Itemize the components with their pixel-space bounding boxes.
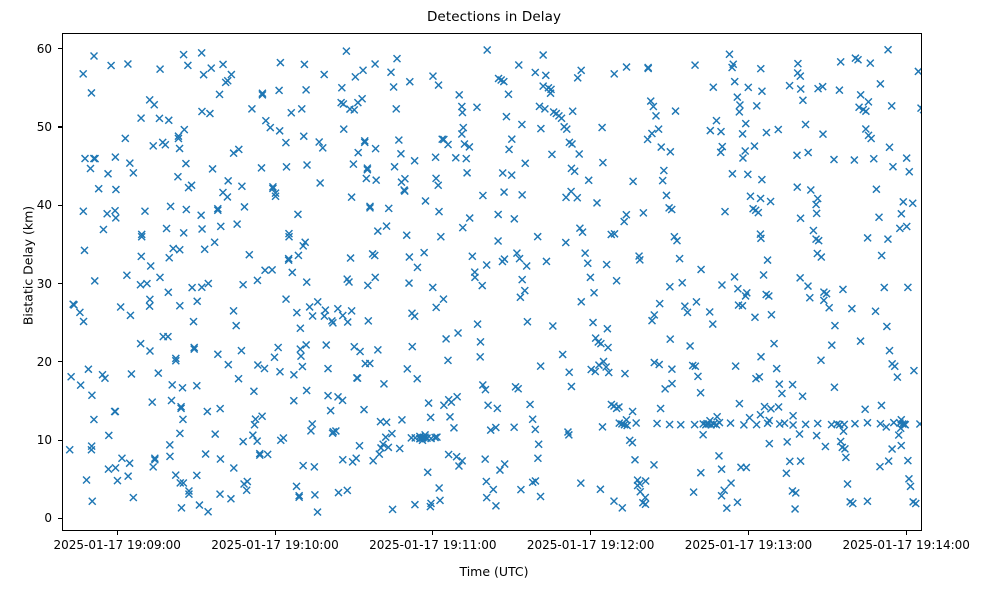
scatter-marker xyxy=(146,348,153,355)
scatter-marker xyxy=(508,136,515,143)
scatter-marker xyxy=(143,280,150,287)
scatter-marker xyxy=(202,451,209,458)
scatter-marker xyxy=(440,296,447,303)
scatter-marker xyxy=(230,465,237,472)
scatter-marker xyxy=(666,421,673,428)
scatter-marker xyxy=(891,363,898,370)
scatter-marker xyxy=(404,365,411,372)
scatter-marker xyxy=(240,438,247,445)
scatter-marker xyxy=(340,126,347,133)
scatter-marker xyxy=(91,277,98,284)
scatter-marker xyxy=(372,60,379,67)
scatter-marker xyxy=(483,494,490,501)
scatter-marker xyxy=(757,231,764,238)
scatter-marker xyxy=(623,211,630,218)
scatter-marker xyxy=(141,208,148,215)
scatter-marker xyxy=(810,227,817,234)
scatter-marker xyxy=(365,317,372,324)
scatter-marker xyxy=(193,472,200,479)
scatter-marker xyxy=(80,318,87,325)
scatter-marker xyxy=(437,497,444,504)
scatter-marker xyxy=(894,374,901,381)
scatter-marker xyxy=(881,284,888,291)
scatter-marker xyxy=(371,252,378,259)
scatter-marker xyxy=(169,381,176,388)
scatter-marker xyxy=(532,477,539,484)
scatter-marker xyxy=(629,408,636,415)
scatter-marker xyxy=(411,313,418,320)
scatter-marker xyxy=(414,375,421,382)
scatter-marker xyxy=(380,380,387,387)
scatter-marker xyxy=(335,489,342,496)
scatter-marker xyxy=(645,65,652,72)
scatter-marker xyxy=(540,83,547,90)
scatter-marker xyxy=(714,413,721,420)
scatter-marker xyxy=(751,314,758,321)
scatter-marker xyxy=(794,60,801,67)
scatter-marker xyxy=(427,414,434,421)
scatter-marker xyxy=(216,91,223,98)
scatter-marker xyxy=(676,255,683,262)
scatter-marker xyxy=(505,91,512,98)
scatter-marker xyxy=(127,312,134,319)
scatter-marker xyxy=(196,502,203,509)
scatter-marker xyxy=(440,402,447,409)
scatter-marker xyxy=(170,245,177,252)
scatter-marker xyxy=(276,127,283,134)
scatter-marker xyxy=(254,362,261,369)
scatter-marker xyxy=(719,143,726,150)
scatter-marker xyxy=(767,405,774,412)
scatter-marker xyxy=(288,109,295,116)
scatter-marker xyxy=(784,438,791,445)
scatter-marker xyxy=(657,405,664,412)
scatter-marker xyxy=(363,175,370,182)
scatter-marker xyxy=(862,126,869,133)
scatter-marker xyxy=(534,233,541,240)
scatter-marker xyxy=(758,88,765,95)
scatter-marker xyxy=(383,419,390,426)
scatter-marker xyxy=(156,115,163,122)
scatter-marker xyxy=(241,203,248,210)
scatter-marker xyxy=(644,136,651,143)
scatter-marker xyxy=(610,498,617,505)
scatter-marker xyxy=(299,363,306,370)
scatter-marker xyxy=(831,384,838,391)
scatter-marker xyxy=(766,440,773,447)
scatter-marker xyxy=(717,149,724,156)
x-tick-mark xyxy=(748,531,749,535)
scatter-marker xyxy=(269,266,276,273)
scatter-marker xyxy=(100,226,107,233)
scatter-marker xyxy=(160,333,167,340)
scatter-marker xyxy=(362,360,369,367)
scatter-marker xyxy=(348,194,355,201)
scatter-marker xyxy=(396,445,403,452)
scatter-marker xyxy=(751,143,758,150)
scatter-marker xyxy=(797,274,804,281)
scatter-marker xyxy=(433,175,440,182)
scatter-marker xyxy=(450,424,457,431)
scatter-marker xyxy=(147,262,154,269)
scatter-marker xyxy=(275,344,282,351)
scatter-marker xyxy=(515,61,522,68)
scatter-marker xyxy=(796,431,803,438)
scatter-marker xyxy=(452,154,459,161)
scatter-marker xyxy=(205,280,212,287)
scatter-marker xyxy=(298,105,305,112)
scatter-marker xyxy=(166,254,173,261)
scatter-marker xyxy=(125,473,132,480)
scatter-marker xyxy=(506,146,513,153)
scatter-marker xyxy=(534,455,541,462)
scatter-marker xyxy=(343,48,350,55)
scatter-marker xyxy=(755,209,762,216)
scatter-marker xyxy=(519,191,526,198)
scatter-marker xyxy=(740,421,747,428)
scatter-marker xyxy=(166,441,173,448)
scatter-marker xyxy=(543,258,550,265)
scatter-marker xyxy=(162,141,169,148)
y-tick-label: 50 xyxy=(37,120,52,134)
scatter-marker xyxy=(225,361,232,368)
x-tick-label: 2025-01-17 19:14:00 xyxy=(842,538,969,552)
scatter-marker xyxy=(394,55,401,62)
scatter-marker xyxy=(80,208,87,215)
scatter-marker xyxy=(753,421,760,428)
scatter-marker xyxy=(605,344,612,351)
scatter-marker xyxy=(271,354,278,361)
scatter-marker xyxy=(458,131,465,138)
scatter-marker xyxy=(734,499,741,506)
scatter-marker xyxy=(246,251,253,258)
scatter-marker xyxy=(390,84,397,91)
scatter-marker xyxy=(537,493,544,500)
scatter-marker xyxy=(295,252,302,259)
scatter-marker xyxy=(768,311,775,318)
scatter-marker xyxy=(212,431,219,438)
scatter-marker xyxy=(734,94,741,101)
scatter-marker xyxy=(391,163,398,170)
scatter-marker xyxy=(684,309,691,316)
scatter-marker xyxy=(742,120,749,127)
scatter-marker xyxy=(814,250,821,257)
scatter-marker xyxy=(165,117,172,124)
scatter-marker xyxy=(597,340,604,347)
scatter-marker xyxy=(101,375,108,382)
scatter-marker xyxy=(99,371,106,378)
scatter-marker xyxy=(200,71,207,78)
scatter-marker xyxy=(540,52,547,59)
scatter-marker xyxy=(679,279,686,286)
scatter-marker xyxy=(469,253,476,260)
scatter-marker xyxy=(584,260,591,267)
scatter-marker xyxy=(217,223,224,230)
scatter-marker xyxy=(228,71,235,78)
scatter-marker xyxy=(599,159,606,166)
scatter-marker xyxy=(217,456,224,463)
scatter-marker xyxy=(568,383,575,390)
scatter-marker xyxy=(117,304,124,311)
scatter-marker xyxy=(382,434,389,441)
scatter-marker xyxy=(876,214,883,221)
scatter-marker xyxy=(673,237,680,244)
scatter-marker xyxy=(311,491,318,498)
scatter-marker xyxy=(667,336,674,343)
scatter-marker xyxy=(230,307,237,314)
y-axis-label: Bistatic Delay (km) xyxy=(21,146,36,386)
scatter-marker xyxy=(668,366,675,373)
scatter-marker xyxy=(304,162,311,169)
scatter-marker xyxy=(422,197,429,204)
x-tick-label: 2025-01-17 19:13:00 xyxy=(685,538,812,552)
scatter-marker xyxy=(454,393,461,400)
scatter-marker xyxy=(303,387,310,394)
x-tick-label: 2025-01-17 19:11:00 xyxy=(369,538,496,552)
scatter-marker xyxy=(335,393,342,400)
scatter-marker xyxy=(294,211,301,218)
scatter-marker xyxy=(566,369,573,376)
scatter-marker xyxy=(822,443,829,450)
scatter-marker xyxy=(435,182,442,189)
scatter-marker xyxy=(297,353,304,360)
scatter-marker xyxy=(813,201,820,208)
scatter-marker xyxy=(775,403,782,410)
scatter-marker xyxy=(718,281,725,288)
scatter-marker xyxy=(137,340,144,347)
scatter-marker xyxy=(474,321,481,328)
scatter-marker xyxy=(388,430,395,437)
scatter-marker xyxy=(519,276,526,283)
scatter-marker xyxy=(267,124,274,131)
scatter-marker xyxy=(739,155,746,162)
scatter-marker xyxy=(745,84,752,91)
scatter-marker xyxy=(828,342,835,349)
scatter-marker xyxy=(888,102,895,109)
scatter-marker xyxy=(372,145,379,152)
scatter-marker xyxy=(208,65,215,72)
scatter-marker xyxy=(535,441,542,448)
scatter-marker xyxy=(896,225,903,232)
scatter-marker xyxy=(828,421,835,428)
scatter-marker xyxy=(227,495,234,502)
x-tick-label: 2025-01-17 19:09:00 xyxy=(53,538,180,552)
scatter-marker xyxy=(524,318,531,325)
scatter-marker xyxy=(262,267,269,274)
scatter-marker xyxy=(511,424,518,431)
scatter-marker xyxy=(406,280,413,287)
scatter-marker xyxy=(157,66,164,73)
scatter-marker xyxy=(910,367,917,374)
scatter-marker xyxy=(629,439,636,446)
scatter-marker xyxy=(878,402,885,409)
scatter-marker xyxy=(122,135,129,142)
scatter-marker xyxy=(340,101,347,108)
scatter-marker xyxy=(306,303,313,310)
scatter-marker xyxy=(181,126,188,133)
scatter-marker xyxy=(124,61,131,68)
x-tick-mark xyxy=(590,531,591,535)
scatter-marker xyxy=(339,456,346,463)
scatter-marker xyxy=(406,78,413,85)
y-tick-mark xyxy=(58,518,62,519)
scatter-marker xyxy=(877,80,884,87)
scatter-marker xyxy=(736,108,743,115)
scatter-marker xyxy=(862,406,869,413)
scatter-marker xyxy=(916,420,921,427)
scatter-marker xyxy=(150,463,157,470)
scatter-marker xyxy=(130,494,137,501)
scatter-marker xyxy=(604,325,611,332)
scatter-marker xyxy=(112,214,119,221)
scatter-marker xyxy=(327,407,334,414)
scatter-marker xyxy=(108,62,115,69)
scatter-marker xyxy=(138,115,145,122)
scatter-marker xyxy=(568,165,575,172)
scatter-marker xyxy=(903,223,910,230)
scatter-marker xyxy=(471,269,478,276)
scatter-marker xyxy=(906,168,913,175)
y-tick-label: 20 xyxy=(37,355,52,369)
scatter-marker xyxy=(370,457,377,464)
scatter-marker xyxy=(444,357,451,364)
scatter-marker xyxy=(742,147,749,154)
scatter-marker xyxy=(883,323,890,330)
scatter-marker xyxy=(659,177,666,184)
y-tick-mark xyxy=(58,48,62,49)
scatter-marker xyxy=(837,438,844,445)
scatter-marker xyxy=(786,458,793,465)
scatter-marker xyxy=(806,294,813,301)
scatter-marker xyxy=(718,466,725,473)
x-tick-mark xyxy=(117,531,118,535)
scatter-marker xyxy=(895,432,902,439)
x-axis-label: Time (UTC) xyxy=(0,564,988,579)
scatter-marker xyxy=(190,318,197,325)
scatter-marker xyxy=(319,144,326,151)
scatter-marker xyxy=(262,117,269,124)
scatter-marker xyxy=(587,274,594,281)
scatter-marker xyxy=(837,58,844,65)
scatter-marker xyxy=(353,455,360,462)
scatter-marker xyxy=(517,486,524,493)
scatter-marker xyxy=(437,233,444,240)
scatter-marker xyxy=(501,256,508,263)
y-tick-mark xyxy=(58,283,62,284)
scatter-marker xyxy=(180,51,187,58)
scatter-marker xyxy=(238,347,245,354)
scatter-marker xyxy=(656,300,663,307)
scatter-marker xyxy=(350,161,357,168)
scatter-marker xyxy=(640,209,647,216)
scatter-marker xyxy=(114,477,121,484)
scatter-marker xyxy=(217,491,224,498)
scatter-marker xyxy=(76,309,83,316)
scatter-marker xyxy=(149,399,156,406)
scatter-marker xyxy=(666,283,673,290)
scatter-marker xyxy=(372,274,379,281)
scatter-marker xyxy=(406,254,413,261)
scatter-marker xyxy=(483,261,490,268)
scatter-marker xyxy=(484,46,491,53)
scatter-marker xyxy=(105,170,112,177)
scatter-marker xyxy=(235,375,242,382)
scatter-marker xyxy=(198,212,205,219)
scatter-marker xyxy=(254,277,261,284)
scatter-marker xyxy=(820,297,827,304)
scatter-marker xyxy=(344,487,351,494)
scatter-marker xyxy=(280,434,287,441)
scatter-marker xyxy=(398,416,405,423)
scatter-marker xyxy=(576,225,583,232)
scatter-marker xyxy=(818,357,825,364)
scatter-marker xyxy=(574,74,581,81)
scatter-marker xyxy=(156,274,163,281)
scatter-marker xyxy=(501,189,508,196)
scatter-marker xyxy=(348,307,355,314)
scatter-marker xyxy=(511,215,518,222)
scatter-marker xyxy=(261,365,268,372)
scatter-marker xyxy=(339,312,346,319)
scatter-marker xyxy=(857,338,864,345)
scatter-marker xyxy=(757,411,764,418)
scatter-marker xyxy=(813,210,820,217)
scatter-marker xyxy=(233,322,240,329)
scatter-marker xyxy=(445,451,452,458)
scatter-marker xyxy=(691,421,698,428)
scatter-marker xyxy=(864,234,871,241)
scatter-marker xyxy=(301,61,308,68)
scatter-marker xyxy=(322,307,329,314)
scatter-marker xyxy=(503,113,510,120)
scatter-marker xyxy=(577,480,584,487)
scatter-marker xyxy=(819,131,826,138)
scatter-marker xyxy=(633,420,640,427)
scatter-marker xyxy=(767,198,774,205)
scatter-marker xyxy=(734,285,741,292)
scatter-marker xyxy=(464,169,471,176)
scatter-marker xyxy=(303,341,310,348)
scatter-marker xyxy=(351,343,358,350)
scatter-marker xyxy=(898,442,905,449)
scatter-marker xyxy=(112,186,119,193)
scatter-marker xyxy=(92,155,99,162)
scatter-marker xyxy=(532,426,539,433)
scatter-marker xyxy=(789,381,796,388)
scatter-marker xyxy=(387,69,394,76)
scatter-marker xyxy=(537,125,544,132)
scatter-marker xyxy=(652,112,659,119)
scatter-marker xyxy=(903,155,910,162)
scatter-marker xyxy=(244,478,251,485)
scatter-marker xyxy=(401,175,408,182)
scatter-marker xyxy=(88,89,95,96)
scatter-marker xyxy=(494,405,501,412)
scatter-marker xyxy=(884,236,891,243)
scatter-marker xyxy=(130,169,137,176)
scatter-marker xyxy=(867,60,874,67)
scatter-marker xyxy=(715,452,722,459)
scatter-marker xyxy=(578,298,585,305)
scatter-marker xyxy=(783,470,790,477)
scatter-marker xyxy=(814,195,821,202)
scatter-marker xyxy=(376,451,383,458)
scatter-marker xyxy=(429,73,436,80)
scatter-marker xyxy=(194,298,201,305)
scatter-marker xyxy=(211,239,218,246)
scatter-marker xyxy=(429,284,436,291)
scatter-marker xyxy=(137,281,144,288)
